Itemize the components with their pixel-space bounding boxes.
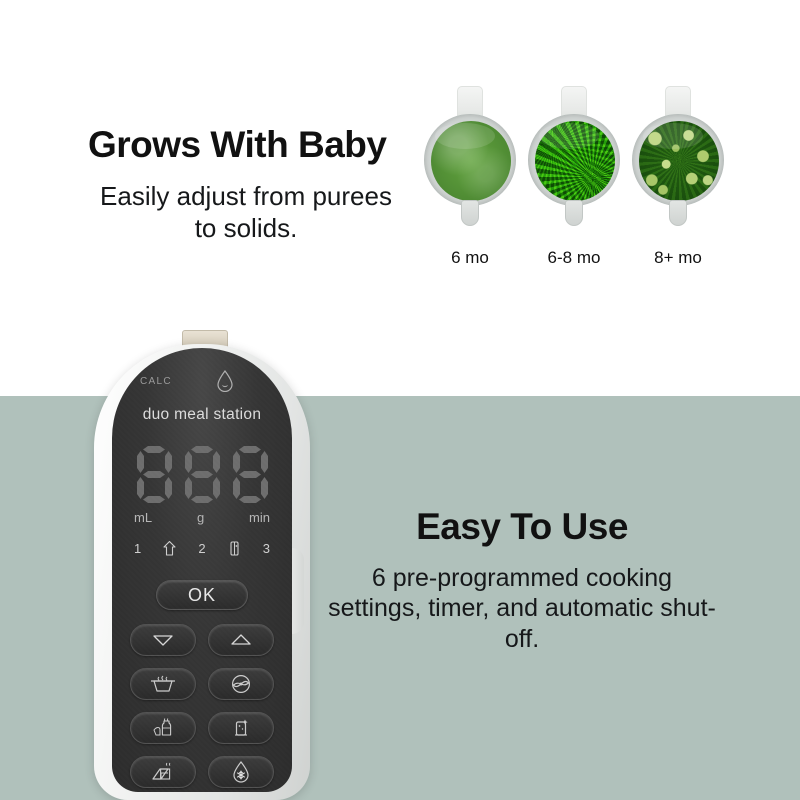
easy-to-use-block: Easy To Use 6 pre-programmed cooking set…: [322, 508, 722, 654]
top-headline: Grows With Baby: [88, 126, 418, 165]
calc-indicator-label: CALC: [140, 376, 172, 387]
reheat-icon: [148, 761, 178, 783]
arrow-down-button[interactable]: [130, 624, 196, 656]
step-number-1: 1: [134, 541, 141, 556]
bowl-age-label: 8+ mo: [632, 248, 724, 268]
bottom-headline: Easy To Use: [322, 508, 722, 547]
defrost-icon: [230, 760, 252, 784]
food-texture-chunky: [639, 121, 719, 201]
bowl-item: 6 mo: [424, 86, 516, 286]
bowl-item: 6-8 mo: [528, 86, 620, 286]
sterilize-icon: [229, 717, 253, 739]
blend-blade-icon: [229, 673, 253, 695]
device-brand-name: duo meal station: [112, 406, 292, 424]
steam-house-icon: [162, 540, 177, 557]
food-texture-medium: [535, 121, 615, 201]
arrow-down-icon: [150, 632, 176, 648]
bottle-warmer-icon: [148, 717, 178, 739]
step-number-3: 3: [263, 541, 270, 556]
unit-label-ml: mL: [134, 510, 152, 525]
bowl-age-label: 6 mo: [424, 248, 516, 268]
lcd-digit: [230, 444, 270, 506]
bottle-warmer-button[interactable]: [130, 712, 196, 744]
bowl-spout: [565, 200, 583, 226]
bowl-body: [424, 114, 516, 206]
defrost-button[interactable]: [208, 756, 274, 788]
bottom-subcopy: 6 pre-programmed cooking settings, timer…: [322, 563, 722, 655]
arrow-up-button[interactable]: [208, 624, 274, 656]
ok-button[interactable]: OK: [156, 580, 248, 610]
unit-labels-row: mL g min: [134, 510, 270, 525]
bowl-age-label: 6-8 mo: [528, 248, 620, 268]
blend-blade-button[interactable]: [208, 668, 274, 700]
steam-basket-button[interactable]: [130, 668, 196, 700]
unit-label-min: min: [249, 510, 270, 525]
bottle-container-icon: [227, 540, 242, 557]
lcd-display: [134, 444, 270, 506]
bowl-item: 8+ mo: [632, 86, 724, 286]
bowl-body: [528, 114, 620, 206]
product-feature-page: Grows With Baby Easily adjust from puree…: [0, 0, 800, 800]
lcd-digit: [182, 444, 222, 506]
texture-bowls-row: 6 mo 6-8 mo 8+ mo: [424, 86, 724, 286]
lcd-digit: [134, 444, 174, 506]
device-control-panel: CALC duo meal station: [112, 348, 292, 792]
unit-label-g: g: [197, 510, 204, 525]
grows-with-baby-block: Grows With Baby Easily adjust from puree…: [88, 126, 418, 244]
top-subcopy: Easily adjust from purees to solids.: [96, 181, 396, 244]
bowl-body: [632, 114, 724, 206]
steam-basket-icon: [148, 674, 178, 694]
food-texture-puree: [431, 121, 511, 201]
sterilize-button[interactable]: [208, 712, 274, 744]
bowl-spout: [669, 200, 687, 226]
arrow-up-icon: [228, 632, 254, 648]
reheat-button[interactable]: [130, 756, 196, 788]
step-number-2: 2: [198, 541, 205, 556]
bowl-spout: [461, 200, 479, 226]
water-droplet-icon: [216, 370, 234, 392]
function-button-grid: [130, 624, 274, 788]
step-indicator-row: 1 2 3: [134, 540, 270, 557]
duo-meal-station-device: CALC duo meal station: [86, 330, 318, 800]
